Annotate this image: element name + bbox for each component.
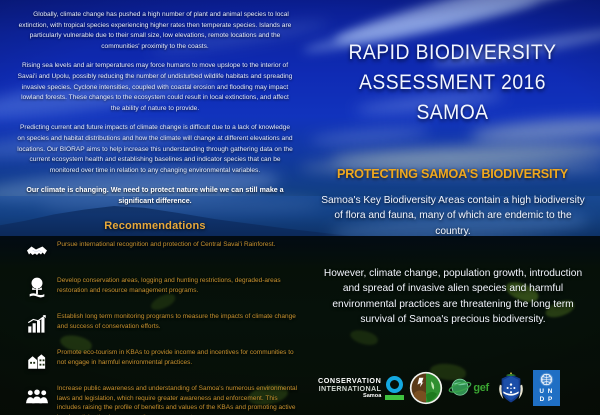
title-line-2: ASSESSMENT 2016 <box>317 68 588 98</box>
sub-heading: PROTECTING SAMOA'S BIODIVERSITY <box>309 166 595 181</box>
recommendation-text: Pursue international recognition and pro… <box>57 239 300 249</box>
recommendation-item: Pursue international recognition and pro… <box>10 239 300 264</box>
undp-logo: U N D P <box>533 370 560 406</box>
intro-paragraph-2: Rising sea levels and air temperatures m… <box>10 61 300 114</box>
gef-logo: gef <box>448 367 489 409</box>
recommendations-list: Pursue international recognition and pro… <box>10 239 300 415</box>
ci-line-3: Samoa <box>318 394 381 400</box>
tree-icon <box>24 276 50 300</box>
climate-call-to-action: Our climate is changing. We need to prot… <box>10 185 300 207</box>
undp-line-2: D P <box>540 397 554 404</box>
intro-paragraph-1: Globally, climate change has pushed a hi… <box>10 10 300 52</box>
recommendation-text: Develop conservation areas, logging and … <box>57 275 300 295</box>
intro-paragraph-3: Predicting current and future impacts of… <box>10 123 300 176</box>
poster-root: Globally, climate change has pushed a hi… <box>0 0 600 415</box>
page-title: RAPID BIODIVERSITY ASSESSMENT 2016 SAMOA <box>317 38 588 128</box>
conservation-international-logo: CONSERVATION INTERNATIONAL Samoa <box>318 367 404 409</box>
right-column: RAPID BIODIVERSITY ASSESSMENT 2016 SAMOA… <box>305 0 600 415</box>
handshake-icon <box>24 240 50 264</box>
partner-logo-strip: CONSERVATION INTERNATIONAL Samoa <box>318 366 594 410</box>
bar-chart-icon <box>24 312 50 336</box>
title-line-3: SAMOA <box>317 98 588 128</box>
recommendation-text: Establish long term monitoring programs … <box>57 311 300 331</box>
ci-line-2: INTERNATIONAL <box>318 385 381 392</box>
mnre-samoa-logo <box>409 367 443 409</box>
body-paragraph-1: Samoa's Key Biodiversity Areas contain a… <box>319 193 587 239</box>
undp-line-1: U N <box>539 389 553 396</box>
ci-line-1: CONSERVATION <box>318 377 381 384</box>
ci-ring-icon <box>385 376 404 400</box>
recommendation-item: Promote eco-tourism in KBAs to provide i… <box>10 347 300 372</box>
recommendations-heading: Recommendations <box>10 220 300 232</box>
samoa-coat-of-arms-logo <box>494 367 528 409</box>
title-line-1: RAPID BIODIVERSITY <box>317 38 588 68</box>
recommendation-item: Increase public awareness and understand… <box>10 383 300 415</box>
gef-wordmark: gef <box>473 382 489 394</box>
recommendation-text: Promote eco-tourism in KBAs to provide i… <box>57 347 300 367</box>
body-paragraph-2: However, climate change, population grow… <box>319 266 587 327</box>
village-icon <box>24 348 50 372</box>
people-group-icon <box>24 384 50 408</box>
recommendation-text: Increase public awareness and understand… <box>57 383 300 415</box>
left-column: Globally, climate change has pushed a hi… <box>10 10 300 415</box>
recommendation-item: Establish long term monitoring programs … <box>10 311 300 336</box>
recommendation-item: Develop conservation areas, logging and … <box>10 275 300 300</box>
